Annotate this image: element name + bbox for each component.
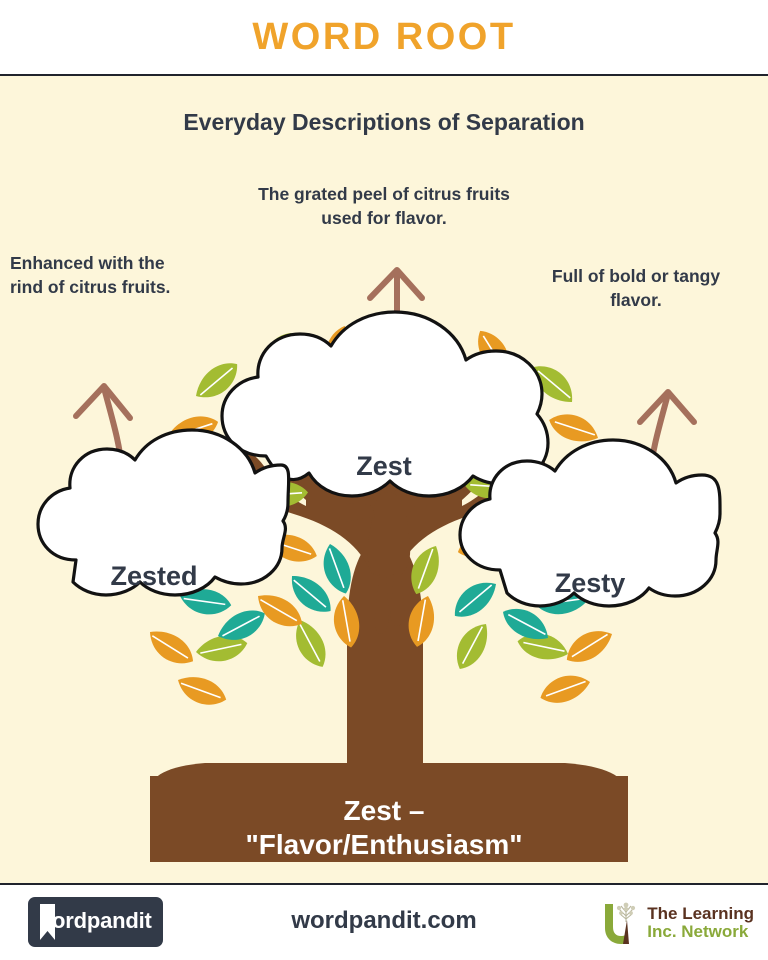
learning-network-text: The Learning Inc. Network xyxy=(647,905,754,941)
caption-top-line1: The grated peel of citrus fruits xyxy=(154,182,614,206)
caption-top-line2: used for flavor. xyxy=(154,206,614,230)
root-definition: Zest – "Flavor/Enthusiasm" xyxy=(124,794,644,862)
footer-bar: ordpandit wordpandit.com The Learni xyxy=(0,883,768,960)
infographic-page: WORD ROOT Everyday Descriptions of Separ… xyxy=(0,0,768,960)
learning-network-logo[interactable]: The Learning Inc. Network xyxy=(599,899,754,947)
cloud-label-zested: Zested xyxy=(46,561,262,592)
caption-top: The grated peel of citrus fruits used fo… xyxy=(154,182,614,230)
caption-left-line1: Enhanced with the xyxy=(10,251,260,275)
partner-line2: Inc. Network xyxy=(647,923,754,941)
caption-left-line2: rind of citrus fruits. xyxy=(10,275,260,299)
root-line2: "Flavor/Enthusiasm" xyxy=(124,828,644,862)
cloud-label-zest: Zest xyxy=(276,451,492,482)
caption-left: Enhanced with the rind of citrus fruits. xyxy=(10,251,260,299)
caption-right-line2: flavor. xyxy=(510,288,762,312)
tree-u-icon xyxy=(599,900,641,946)
infographic-body: Everyday Descriptions of Separation xyxy=(0,76,768,883)
caption-right: Full of bold or tangy flavor. xyxy=(510,264,762,312)
page-title: WORD ROOT xyxy=(252,16,515,59)
caption-right-line1: Full of bold or tangy xyxy=(510,264,762,288)
cloud-label-zesty: Zesty xyxy=(482,568,698,599)
partner-line1: The Learning xyxy=(647,905,754,923)
header-bar: WORD ROOT xyxy=(0,0,768,76)
root-line1: Zest – xyxy=(124,794,644,828)
